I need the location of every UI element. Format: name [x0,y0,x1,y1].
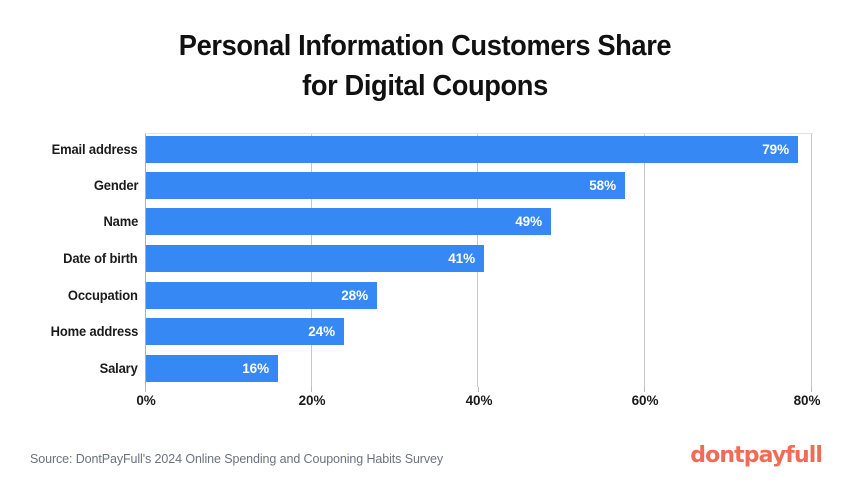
x-tick-label-0: 0% [136,393,155,408]
category-label-occupation: Occupation [68,282,138,309]
chart-title-line-2: for Digital Coupons [26,66,825,106]
bar-value-gender: 58% [589,178,625,193]
table-row: Name 49% [0,208,850,235]
x-tick-label-80: 80% [794,393,821,408]
table-row: Email address 79% [0,136,850,163]
bar-home-address[interactable]: 24% [146,318,344,345]
bar-rows: Email address 79% Gender 58% Name 49% Da… [0,132,850,387]
x-tick-mark-20 [311,387,312,392]
bar-value-home-address: 24% [308,324,344,339]
x-tick-mark-40 [478,387,479,392]
bar-value-email-address: 79% [762,142,798,157]
bar-value-date-of-birth: 41% [448,251,484,266]
bar-date-of-birth[interactable]: 41% [146,245,484,272]
x-tick-mark-80 [811,387,812,392]
x-tick-mark-60 [644,387,645,392]
bar-gender[interactable]: 58% [146,172,625,199]
bar-value-occupation: 28% [341,288,377,303]
bar-occupation[interactable]: 28% [146,282,377,309]
x-tick-label-20: 20% [299,393,326,408]
bar-value-salary: 16% [242,361,278,376]
x-axis: 0% 20% 40% 60% 80% [0,387,850,417]
plot-area: Email address 79% Gender 58% Name 49% Da… [0,132,850,387]
table-row: Occupation 28% [0,282,850,309]
source-note: Source: DontPayFull's 2024 Online Spendi… [30,452,443,466]
category-label-gender: Gender [93,172,138,199]
page-title: Personal Information Customers Share for… [0,26,850,106]
category-label-email-address: Email address [52,136,138,163]
x-tick-label-60: 60% [632,393,659,408]
category-label-salary: Salary [100,355,138,382]
bar-salary[interactable]: 16% [146,355,278,382]
category-label-date-of-birth: Date of birth [64,245,138,272]
table-row: Gender 58% [0,172,850,199]
table-row: Date of birth 41% [0,245,850,272]
dontpayfull-logo: dontpayfull [690,443,822,469]
chart-figure: Personal Information Customers Share for… [0,0,850,500]
category-label-home-address: Home address [50,318,138,345]
table-row: Salary 16% [0,355,850,382]
bar-email-address[interactable]: 79% [146,136,798,163]
table-row: Home address 24% [0,318,850,345]
x-tick-label-40: 40% [466,393,493,408]
category-label-name: Name [103,208,138,235]
chart-title-line-1: Personal Information Customers Share [26,26,825,66]
x-tick-mark-0 [145,387,146,392]
bar-value-name: 49% [515,214,551,229]
bar-name[interactable]: 49% [146,208,551,235]
